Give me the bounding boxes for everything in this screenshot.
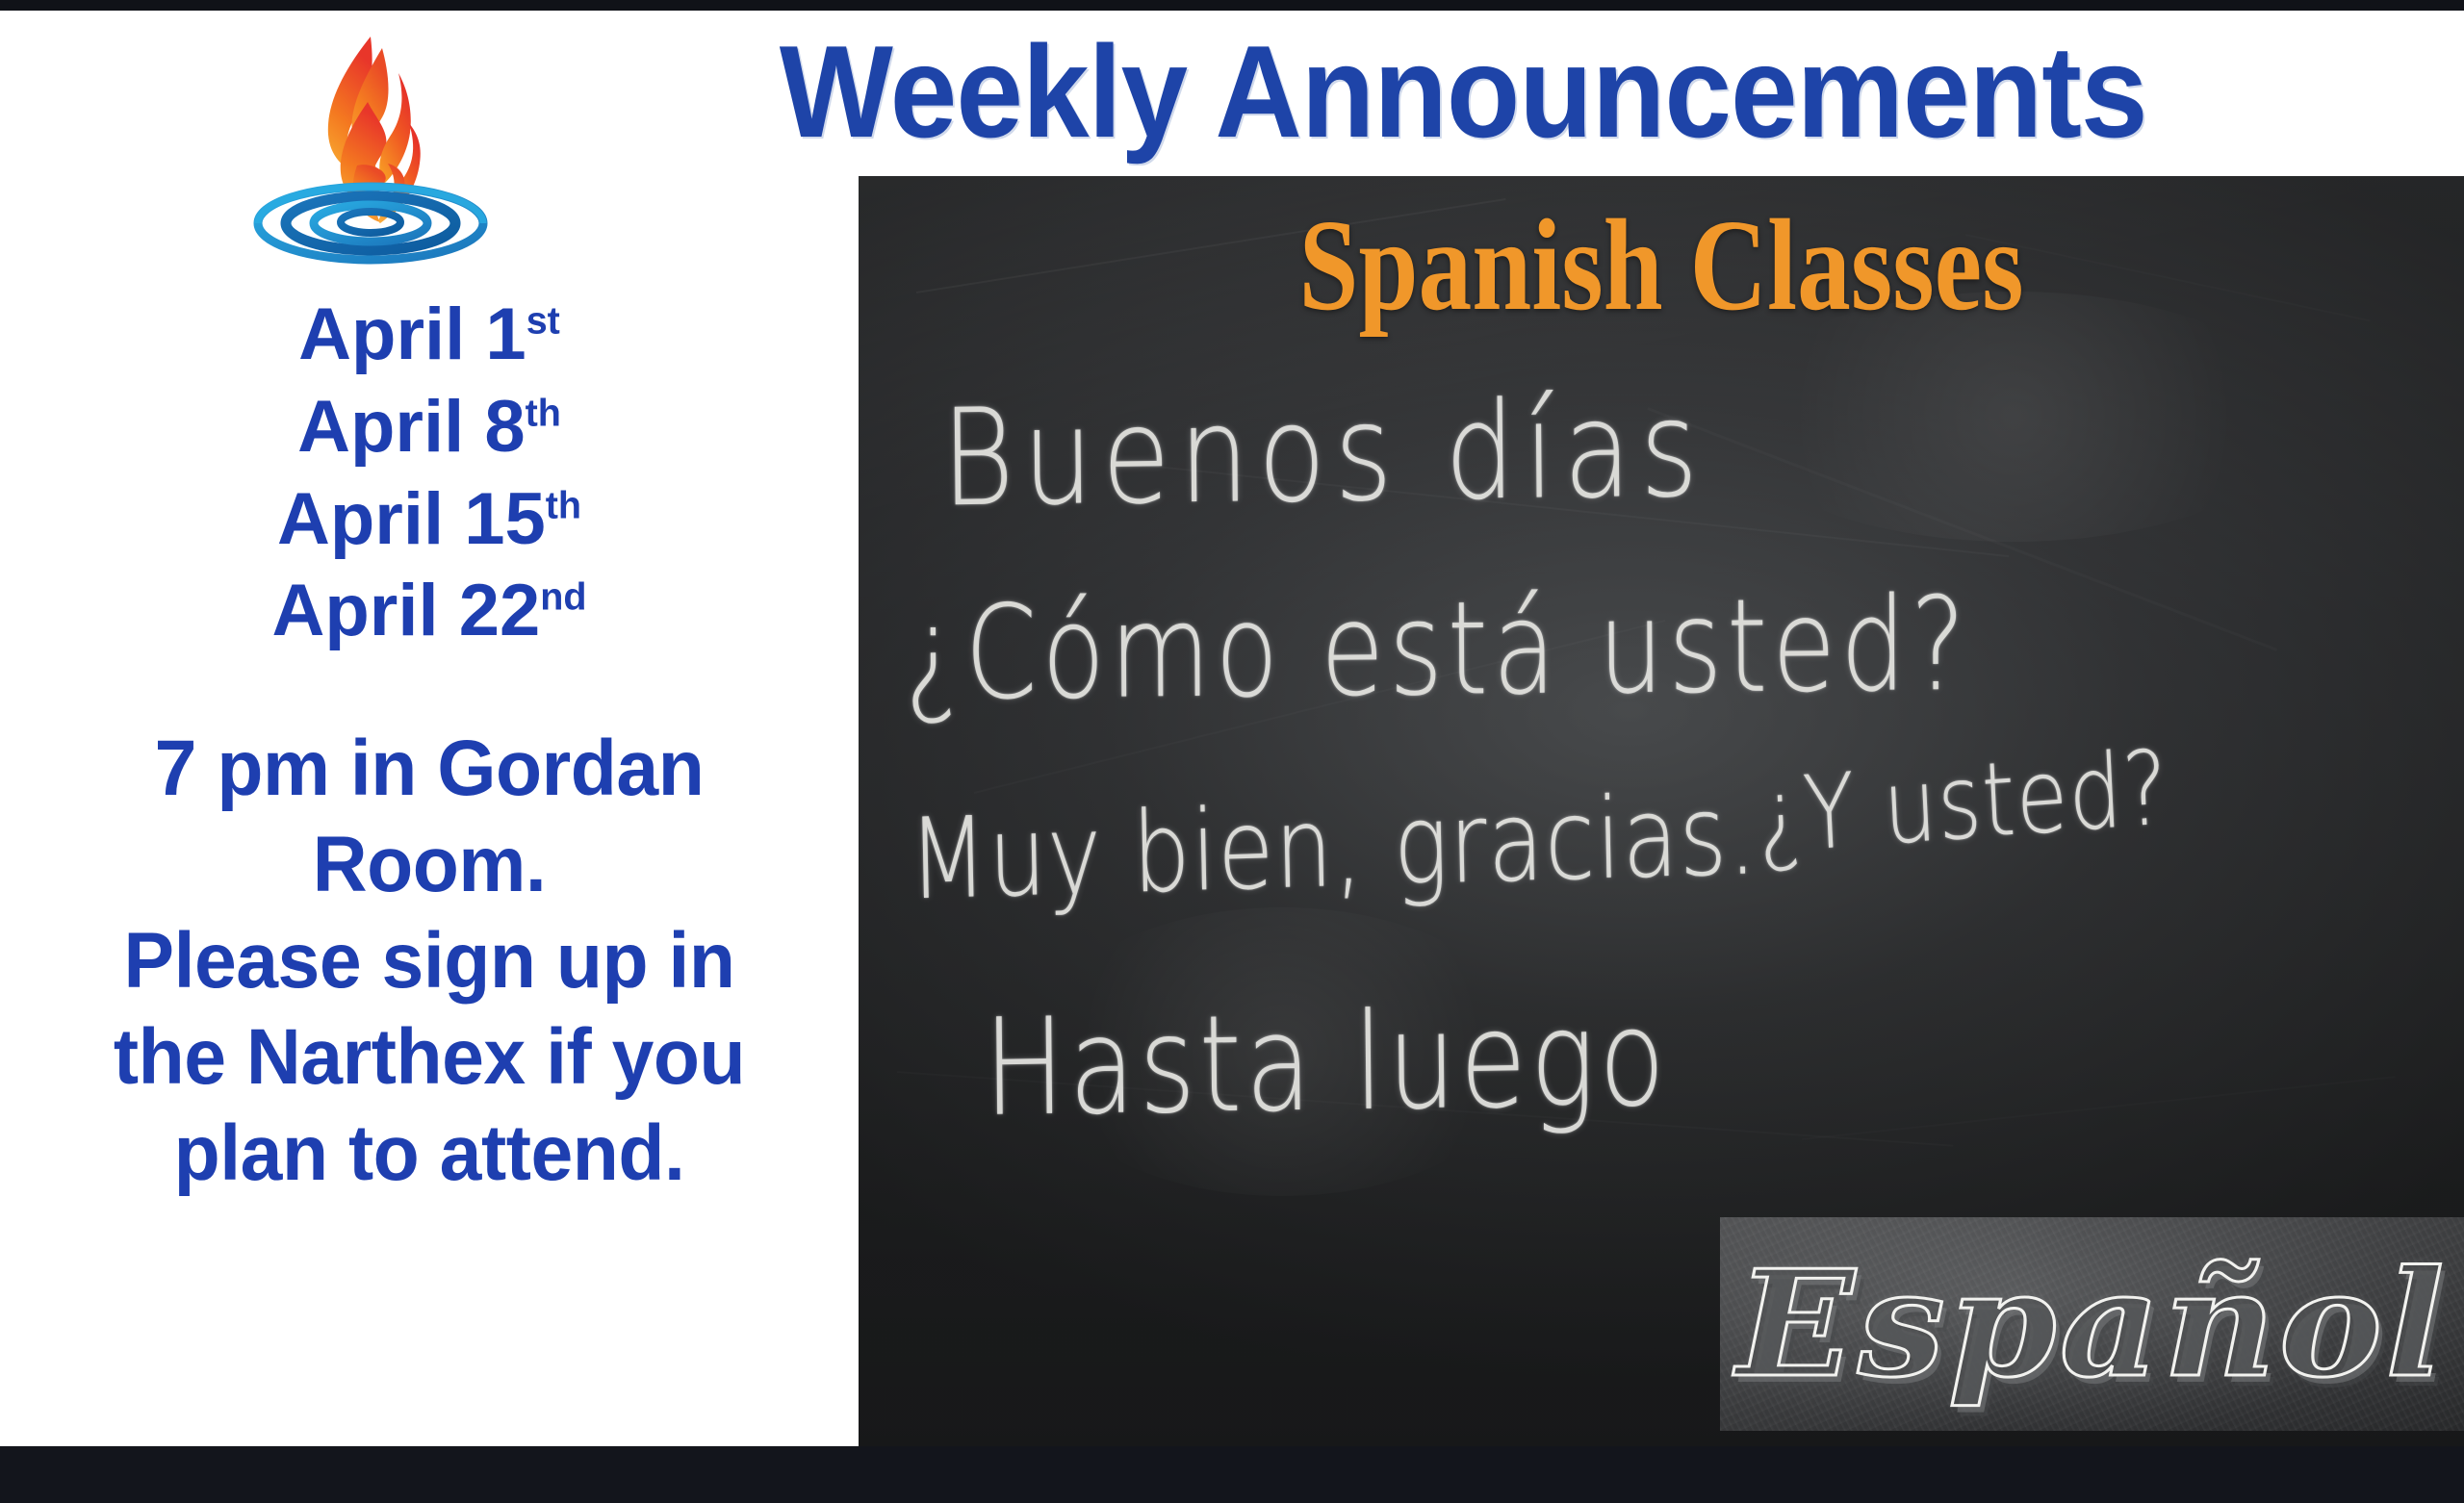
left-info-panel: April 1st April 8th April 15th April 22n… — [0, 289, 859, 1446]
chalk-response-text: Muy bien, gracias. — [908, 769, 1759, 925]
top-letterbox-bar — [0, 0, 2464, 11]
details-line: plan to attend. — [39, 1106, 819, 1202]
date-month: April — [297, 386, 464, 468]
details-line: Room. — [39, 817, 819, 913]
details-line: Please sign up in — [39, 913, 819, 1009]
chalk-smear — [1802, 1076, 2396, 1140]
espanol-badge: Español — [1720, 1217, 2464, 1431]
date-day: 22 — [459, 570, 541, 651]
chalk-line-greeting: Buenos días — [940, 370, 1707, 537]
flame-over-water-logo — [236, 19, 505, 265]
list-item: April 8th — [23, 381, 835, 473]
details-line: 7 pm in Gordan — [39, 721, 819, 817]
list-item: April 22nd — [23, 565, 835, 657]
spacer — [23, 657, 835, 715]
header: Weekly Announcements — [616, 13, 2310, 169]
details-text: 7 pm in Gordan Room. Please sign up in t… — [23, 721, 835, 1202]
water-ripple-icon — [258, 187, 483, 260]
espanol-badge-label: Español — [1736, 1251, 2448, 1397]
date-month: April — [277, 478, 444, 560]
bottom-letterbox-bar — [0, 1446, 2464, 1503]
chalk-response-tail: ¿Y usted? — [1755, 728, 2171, 878]
class-dates-list: April 1st April 8th April 15th April 22n… — [23, 289, 835, 657]
chalkboard-heading: Spanish Classes — [1003, 197, 2320, 335]
date-day: 15 — [464, 478, 546, 560]
slide-root: Weekly Announcements April 1st April 8th… — [0, 0, 2464, 1503]
date-month: April — [298, 293, 465, 375]
list-item: April 15th — [23, 473, 835, 566]
date-ordinal: th — [526, 392, 561, 434]
page-title: Weekly Announcements — [780, 26, 2147, 157]
date-day: 8 — [484, 386, 525, 468]
date-ordinal: nd — [540, 576, 586, 619]
chalkboard-image: Spanish Classes Buenos días ¿Cómo está u… — [859, 176, 2464, 1446]
chalk-line-farewell: Hasta luego — [983, 981, 1669, 1147]
date-month: April — [271, 570, 438, 651]
chalk-line-response: Muy bien, gracias.¿Y usted? — [908, 757, 2170, 926]
date-ordinal: th — [546, 484, 581, 526]
list-item: April 1st — [23, 289, 835, 381]
date-day: 1 — [485, 293, 526, 375]
chalk-line-question: ¿Cómo está usted? — [905, 570, 1971, 729]
date-ordinal: st — [526, 300, 560, 343]
details-line: the Narthex if you — [39, 1009, 819, 1106]
